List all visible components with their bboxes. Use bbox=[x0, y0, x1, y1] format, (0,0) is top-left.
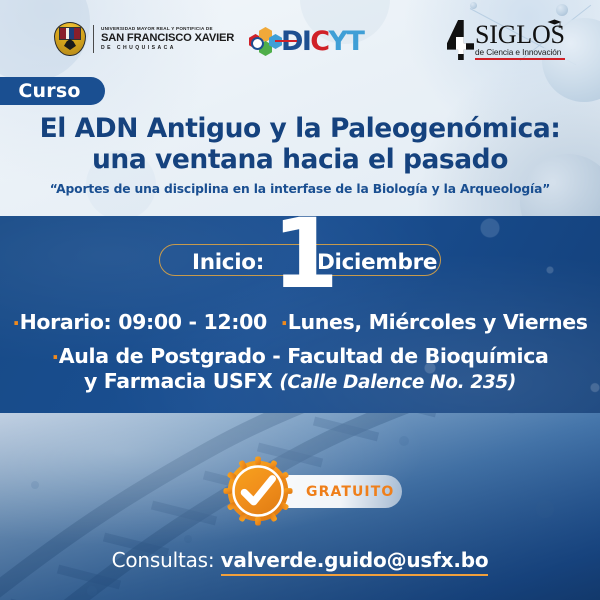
logo-bar: UNIVERSIDAD MAYOR REAL Y PONTIFICIA DE S… bbox=[0, 18, 600, 64]
venue-text-1: Aula de Postgrado - Facultad de Bioquími… bbox=[59, 344, 549, 368]
free-badge-group: GRATUITO bbox=[222, 455, 402, 527]
molecule-node bbox=[470, 2, 477, 9]
contact-line: Consultas: valverde.guido@usfx.bo bbox=[0, 548, 600, 572]
contact-label: Consultas: bbox=[112, 548, 215, 572]
bullet-icon: · bbox=[52, 345, 59, 369]
logo-divider bbox=[93, 25, 94, 53]
usfx-logo-line3: DE CHUQUISACA bbox=[101, 46, 234, 51]
dicyt-logo: DICYT bbox=[249, 24, 363, 58]
venue-line-2: y Farmacia USFX (Calle Dalence No. 235) bbox=[0, 369, 600, 393]
bullet-icon: · bbox=[281, 311, 288, 335]
siglos-tagline: de Ciencia e Innovación bbox=[475, 47, 565, 57]
curso-badge-label: Curso bbox=[18, 80, 80, 102]
curso-badge: Curso bbox=[0, 77, 105, 105]
check-icon bbox=[222, 455, 294, 527]
title-block: El ADN Antiguo y la Paleogenómica: una v… bbox=[0, 113, 600, 196]
molecule-node bbox=[556, 4, 568, 16]
page-title-line-1: El ADN Antiguo y la Paleogenómica: bbox=[0, 113, 600, 144]
start-label: Inicio: bbox=[192, 250, 264, 275]
siglos-underline bbox=[475, 58, 565, 60]
venue-line-1: ·Aula de Postgrado - Facultad de Bioquím… bbox=[0, 344, 600, 369]
venue-text-2: y Farmacia USFX bbox=[84, 369, 273, 393]
siglos-number-4 bbox=[447, 20, 474, 60]
schedule-days: Lunes, Miércoles y Viernes bbox=[288, 310, 588, 334]
usfx-logo-line2: SAN FRANCISCO XAVIER bbox=[101, 33, 234, 44]
siglos-logo: SIGLOS de Ciencia e Innovación bbox=[447, 20, 565, 60]
page-title-line-2: una ventana hacia el pasado bbox=[0, 144, 600, 175]
schedule-label: Horario: bbox=[20, 310, 112, 334]
poster-root: UNIVERSIDAD MAYOR REAL Y PONTIFICIA DE S… bbox=[0, 0, 600, 600]
bullet-icon: · bbox=[12, 311, 19, 335]
free-label: GRATUITO bbox=[306, 484, 394, 500]
schedule-line: ·Horario: 09:00 - 12:00 ·Lunes, Miércole… bbox=[0, 310, 600, 335]
university-crest-icon bbox=[54, 22, 86, 56]
hexagon-cluster-icon bbox=[249, 26, 283, 56]
start-month: Diciembre bbox=[317, 250, 437, 275]
page-subtitle: “Aportes de una disciplina en la interfa… bbox=[0, 182, 600, 196]
venue-address: (Calle Dalence No. 235) bbox=[279, 372, 516, 393]
contact-email[interactable]: valverde.guido@usfx.bo bbox=[221, 548, 489, 576]
schedule-time: 09:00 - 12:00 bbox=[118, 310, 267, 334]
usfx-logo-line1: UNIVERSIDAD MAYOR REAL Y PONTIFICIA DE bbox=[101, 27, 234, 32]
graduation-cap-icon bbox=[547, 19, 562, 28]
usfx-logo: UNIVERSIDAD MAYOR REAL Y PONTIFICIA DE S… bbox=[54, 22, 234, 56]
